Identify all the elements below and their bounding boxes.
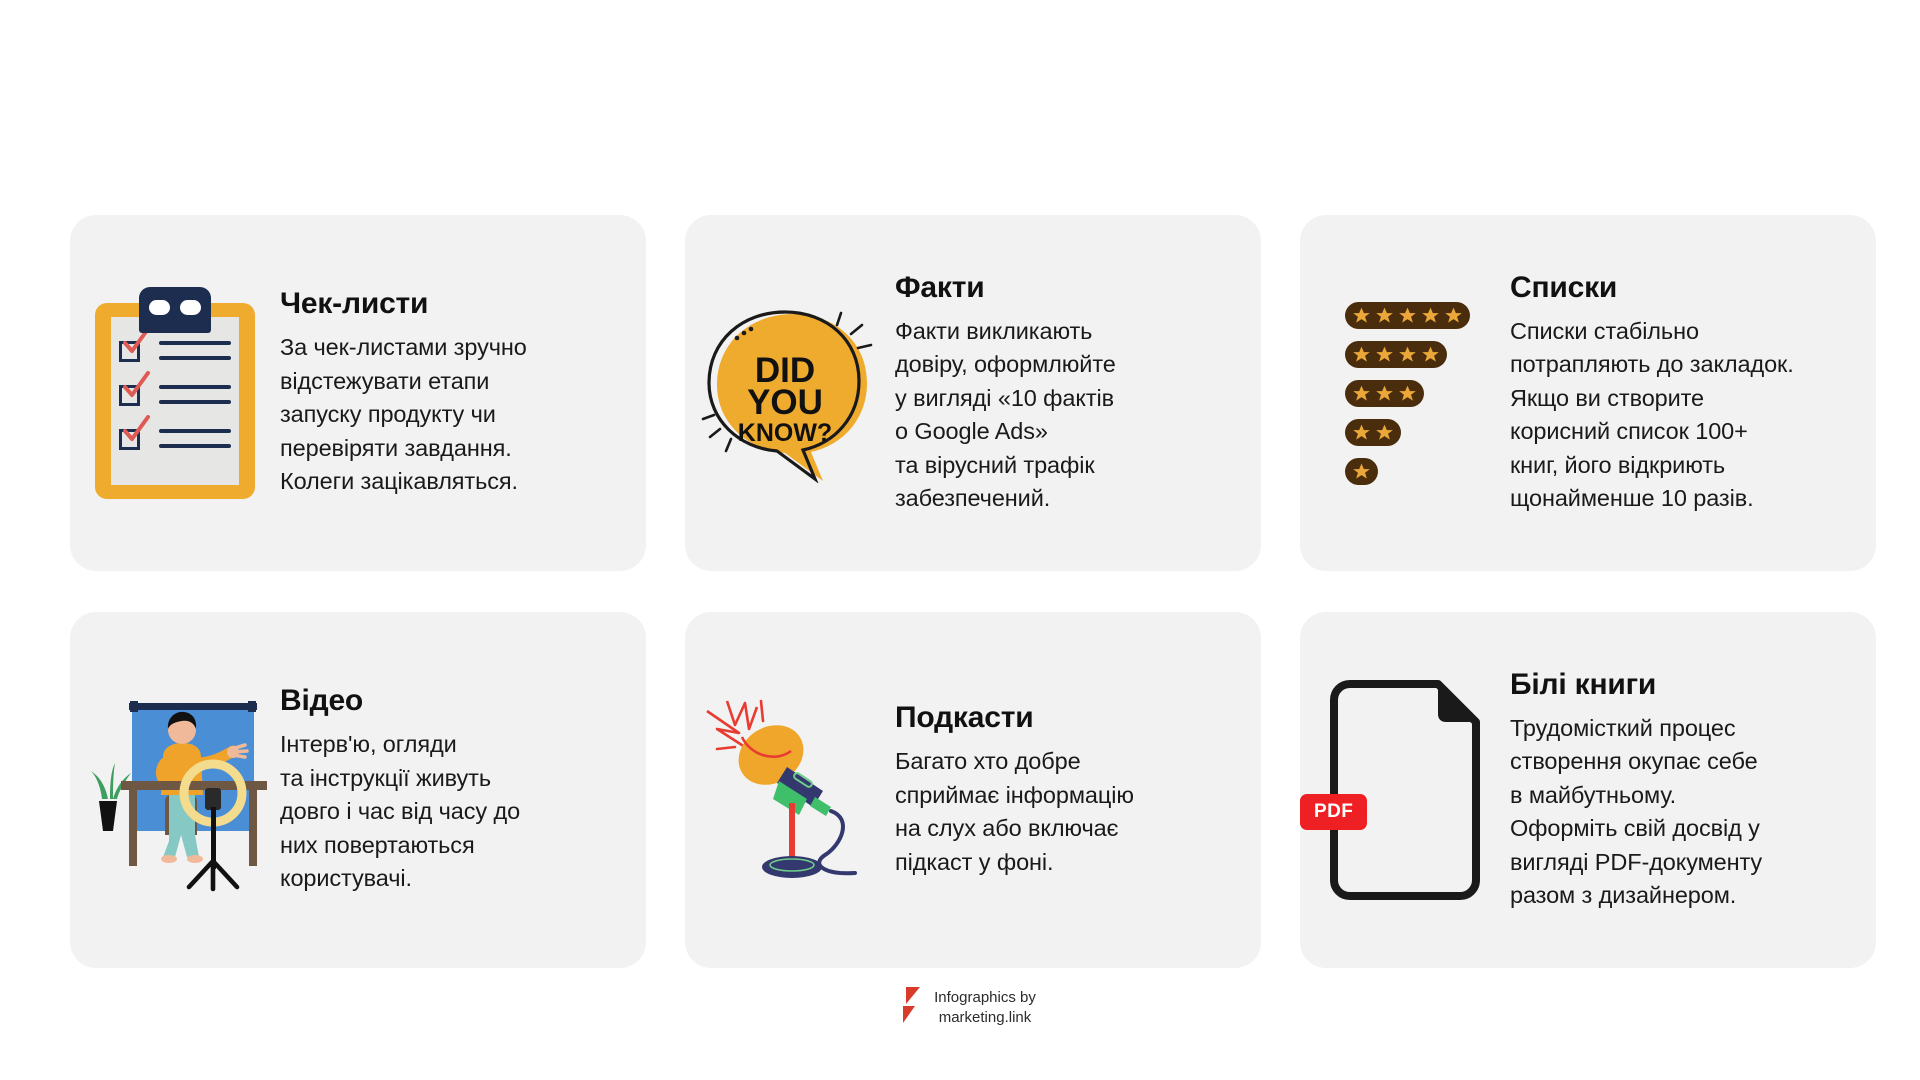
card-title: Чек-листи: [280, 287, 622, 321]
card-body: Факти викликають довіру, оформлюйте у ви…: [895, 315, 1237, 516]
card-white-papers[interactable]: PDF Білі книги Трудомісткий процес створ…: [1300, 612, 1876, 968]
card-text-facts: Факти Факти викликають довіру, оформлюйт…: [895, 271, 1261, 516]
bubble-line-2: YOU: [747, 383, 823, 422]
card-podcasts[interactable]: Подкасти Багато хто добре сприймає інфор…: [685, 612, 1261, 968]
card-title: Списки: [1510, 271, 1852, 305]
card-body: Інтерв'ю, огляди та інструкції живуть до…: [280, 728, 622, 896]
card-title: Білі книги: [1510, 668, 1852, 702]
star-bar-2: [1345, 419, 1401, 446]
card-text-lists: Списки Списки стабільно потрапляють до з…: [1510, 271, 1876, 516]
footer: Infographics by marketing.link: [0, 984, 1920, 1031]
card-text-checklists: Чек-листи За чек-листами зручно відстежу…: [280, 287, 646, 499]
card-text-video: Відео Інтерв'ю, огляди та інструкції жив…: [280, 684, 646, 896]
footer-text: Infographics by marketing.link: [934, 988, 1036, 1028]
bubble-line-3: KNOW?: [738, 419, 832, 447]
card-text-podcasts: Подкасти Багато хто добре сприймає інфор…: [895, 701, 1261, 879]
card-body: Списки стабільно потрапляють до закладок…: [1510, 315, 1852, 516]
star-bar-3: [1345, 380, 1424, 407]
card-title: Факти: [895, 271, 1237, 305]
cards-grid: Чек-листи За чек-листами зручно відстежу…: [70, 215, 1875, 968]
video-recording-setup-icon: [70, 612, 280, 968]
star-bar-4: [1345, 341, 1447, 368]
card-title: Відео: [280, 684, 622, 718]
star-rating-bars-icon: [1300, 215, 1510, 571]
card-body: Трудомісткий процес створення окупає себ…: [1510, 712, 1852, 913]
star-bars: [1341, 302, 1470, 485]
card-facts[interactable]: DID YOU KNOW? Факти Факти викликають дов…: [685, 215, 1261, 571]
clipboard-checklist-icon: [70, 215, 280, 571]
card-lists[interactable]: Списки Списки стабільно потрапляють до з…: [1300, 215, 1876, 571]
pdf-document-icon: PDF: [1300, 612, 1510, 968]
card-title: Подкасти: [895, 701, 1237, 735]
pdf-badge: PDF: [1300, 794, 1367, 830]
did-you-know-speech-bubble-icon: DID YOU KNOW?: [685, 215, 895, 571]
card-video[interactable]: Відео Інтерв'ю, огляди та інструкції жив…: [70, 612, 646, 968]
star-bar-1: [1345, 458, 1378, 485]
marketing-link-funnel-logo: [884, 984, 922, 1031]
star-bar-5: [1345, 302, 1470, 329]
microphone-icon: [685, 612, 895, 968]
card-text-white-papers: Білі книги Трудомісткий процес створення…: [1510, 668, 1876, 913]
card-body: Багато хто добре сприймає інформацію на …: [895, 745, 1237, 879]
card-checklists[interactable]: Чек-листи За чек-листами зручно відстежу…: [70, 215, 646, 571]
card-body: За чек-листами зручно відстежувати етапи…: [280, 331, 622, 499]
